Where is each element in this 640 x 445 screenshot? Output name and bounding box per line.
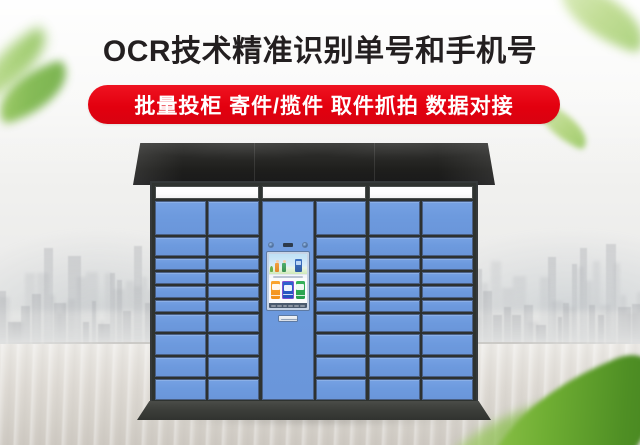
locker-door[interactable]: [208, 286, 259, 298]
locker-door[interactable]: [155, 258, 206, 270]
promo-banner-scene: OCR技术精准识别单号和手机号 批量投柜 寄件/揽件 取件抓拍 数据对接: [0, 0, 640, 445]
locker-door[interactable]: [316, 237, 366, 255]
locker-header-panel: [369, 186, 473, 199]
locker-door-grid: [262, 201, 366, 400]
locker-door[interactable]: [316, 272, 366, 284]
locker-bank: [155, 186, 259, 400]
camera-icon: [268, 242, 274, 248]
kiosk-sensor-row: [268, 240, 308, 249]
locker-door[interactable]: [422, 201, 473, 235]
locker-door[interactable]: [422, 237, 473, 255]
locker-door[interactable]: [369, 357, 420, 378]
locker-bank-with-kiosk: [262, 186, 366, 400]
locker-door[interactable]: [369, 258, 420, 270]
locker-door[interactable]: [422, 379, 473, 400]
kiosk-screen-actions: [269, 278, 307, 303]
locker-door[interactable]: [422, 300, 473, 312]
locker-door[interactable]: [155, 334, 206, 355]
locker-door[interactable]: [369, 300, 420, 312]
locker-door[interactable]: [208, 300, 259, 312]
feature-banner-text: 批量投柜 寄件/揽件 取件抓拍 数据对接: [134, 90, 513, 120]
locker-door[interactable]: [155, 201, 206, 235]
locker-header-panel: [155, 186, 259, 199]
locker-door-column: [316, 201, 366, 400]
locker-door[interactable]: [316, 334, 366, 355]
locker-door-grid: [155, 201, 259, 400]
locker-door[interactable]: [369, 286, 420, 298]
camera-icon: [302, 242, 308, 248]
kiosk-column: [262, 201, 314, 400]
locker-door[interactable]: [208, 314, 259, 332]
locker-door[interactable]: [208, 357, 259, 378]
locker-door-grid: [369, 201, 473, 400]
locker-door[interactable]: [369, 379, 420, 400]
locker-door[interactable]: [422, 357, 473, 378]
locker-door[interactable]: [155, 357, 206, 378]
locker-bank: [369, 186, 473, 400]
locker-door[interactable]: [369, 334, 420, 355]
page-title: OCR技术精准识别单号和手机号: [0, 26, 640, 70]
card-reader-slot[interactable]: [278, 315, 298, 322]
locker-door[interactable]: [316, 286, 366, 298]
locker-door[interactable]: [208, 334, 259, 355]
locker-base-plinth: [137, 401, 491, 420]
locker-door[interactable]: [155, 314, 206, 332]
locker-door[interactable]: [155, 286, 206, 298]
locker-door[interactable]: [155, 272, 206, 284]
locker-door[interactable]: [208, 272, 259, 284]
kiosk-screen-notice: [269, 274, 307, 278]
locker-door-column: [155, 201, 206, 400]
kiosk-screen-footer: [269, 303, 307, 308]
locker-door[interactable]: [369, 272, 420, 284]
locker-door[interactable]: [208, 379, 259, 400]
locker-body: [150, 181, 478, 405]
locker-door[interactable]: [422, 258, 473, 270]
locker-door[interactable]: [369, 237, 420, 255]
locker-door[interactable]: [208, 237, 259, 255]
locker-door[interactable]: [422, 272, 473, 284]
locker-door[interactable]: [369, 314, 420, 332]
locker-door[interactable]: [316, 201, 366, 235]
locker-door[interactable]: [316, 314, 366, 332]
feature-banner: 批量投柜 寄件/揽件 取件抓拍 数据对接: [88, 85, 560, 124]
locker-door[interactable]: [422, 334, 473, 355]
kiosk-screen-illustration: [269, 254, 307, 274]
kiosk-action-send[interactable]: [271, 281, 280, 299]
kiosk-action-more[interactable]: [296, 281, 305, 299]
locker-canopy: [133, 143, 495, 185]
smart-locker-cabinet: [133, 143, 495, 420]
ir-sensor-icon: [283, 243, 293, 247]
kiosk-terminal[interactable]: [266, 240, 310, 322]
locker-door-column: [208, 201, 259, 400]
locker-door-column: [422, 201, 473, 400]
locker-door[interactable]: [316, 357, 366, 378]
locker-door[interactable]: [422, 286, 473, 298]
locker-door[interactable]: [316, 379, 366, 400]
locker-door-column: [369, 201, 420, 400]
locker-door[interactable]: [422, 314, 473, 332]
locker-door[interactable]: [316, 258, 366, 270]
locker-door[interactable]: [316, 300, 366, 312]
locker-door[interactable]: [208, 258, 259, 270]
locker-door[interactable]: [155, 300, 206, 312]
kiosk-action-pickup[interactable]: [282, 281, 293, 299]
locker-door[interactable]: [155, 237, 206, 255]
locker-door[interactable]: [155, 379, 206, 400]
kiosk-screen-bezel: [266, 251, 310, 311]
kiosk-screen[interactable]: [269, 254, 307, 308]
locker-header-panel: [262, 186, 366, 199]
locker-door[interactable]: [369, 201, 420, 235]
locker-door[interactable]: [208, 201, 259, 235]
